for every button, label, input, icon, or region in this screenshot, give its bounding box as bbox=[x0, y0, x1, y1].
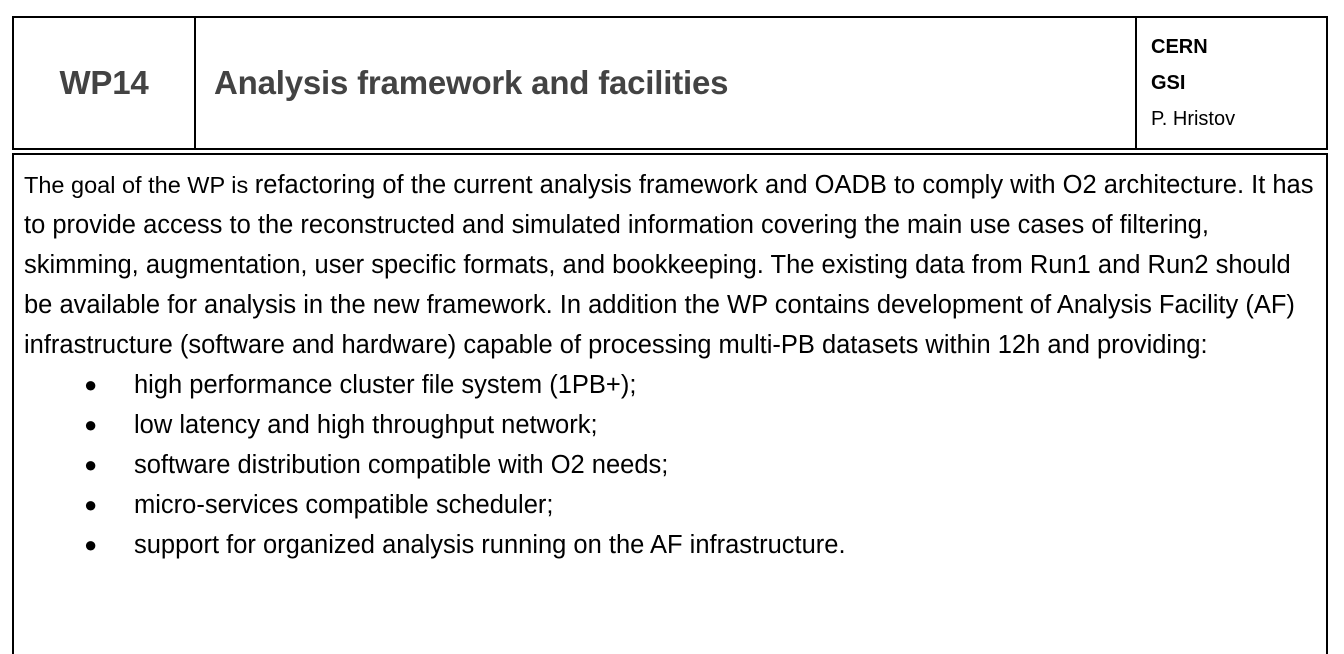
list-item: ● low latency and high throughput networ… bbox=[24, 405, 1314, 445]
work-package-header-row: WP14 Analysis framework and facilities C… bbox=[12, 16, 1328, 150]
list-item: ● high performance cluster file system (… bbox=[24, 365, 1314, 405]
work-package-description: The goal of the WP is refactoring of the… bbox=[24, 165, 1314, 365]
list-item-label: software distribution compatible with O2… bbox=[134, 451, 668, 479]
description-lead-phrase: The goal of the WP is bbox=[24, 172, 255, 198]
list-item: ● support for organized analysis running… bbox=[24, 525, 1314, 565]
list-item-label: support for organized analysis running o… bbox=[134, 531, 846, 559]
list-item: ● software distribution compatible with … bbox=[24, 445, 1314, 485]
bullet-disc-icon: ● bbox=[84, 365, 97, 405]
work-package-title-cell: Analysis framework and facilities bbox=[196, 18, 1137, 148]
description-body-text: refactoring of the current analysis fram… bbox=[24, 171, 1313, 359]
list-item-label: micro-services compatible scheduler; bbox=[134, 491, 553, 519]
work-package-card: WP14 Analysis framework and facilities C… bbox=[12, 16, 1328, 654]
bullet-disc-icon: ● bbox=[84, 445, 97, 485]
organisation-gsi: GSI bbox=[1151, 65, 1326, 101]
work-package-title: Analysis framework and facilities bbox=[214, 64, 728, 102]
work-package-requirements-list: ● high performance cluster file system (… bbox=[24, 365, 1314, 565]
work-package-code: WP14 bbox=[59, 64, 148, 102]
bullet-disc-icon: ● bbox=[84, 485, 97, 525]
list-item-label: low latency and high throughput network; bbox=[134, 411, 598, 439]
list-item-label: high performance cluster file system (1P… bbox=[134, 371, 636, 399]
work-package-body-row: The goal of the WP is refactoring of the… bbox=[12, 153, 1328, 654]
bullet-disc-icon: ● bbox=[84, 525, 97, 565]
bullet-disc-icon: ● bbox=[84, 405, 97, 445]
organisation-cern: CERN bbox=[1151, 29, 1326, 65]
work-package-coordinator: P. Hristov bbox=[1151, 101, 1326, 137]
work-package-organisation-cell: CERN GSI P. Hristov bbox=[1137, 18, 1326, 148]
list-item: ● micro-services compatible scheduler; bbox=[24, 485, 1314, 525]
work-package-code-cell: WP14 bbox=[14, 18, 196, 148]
